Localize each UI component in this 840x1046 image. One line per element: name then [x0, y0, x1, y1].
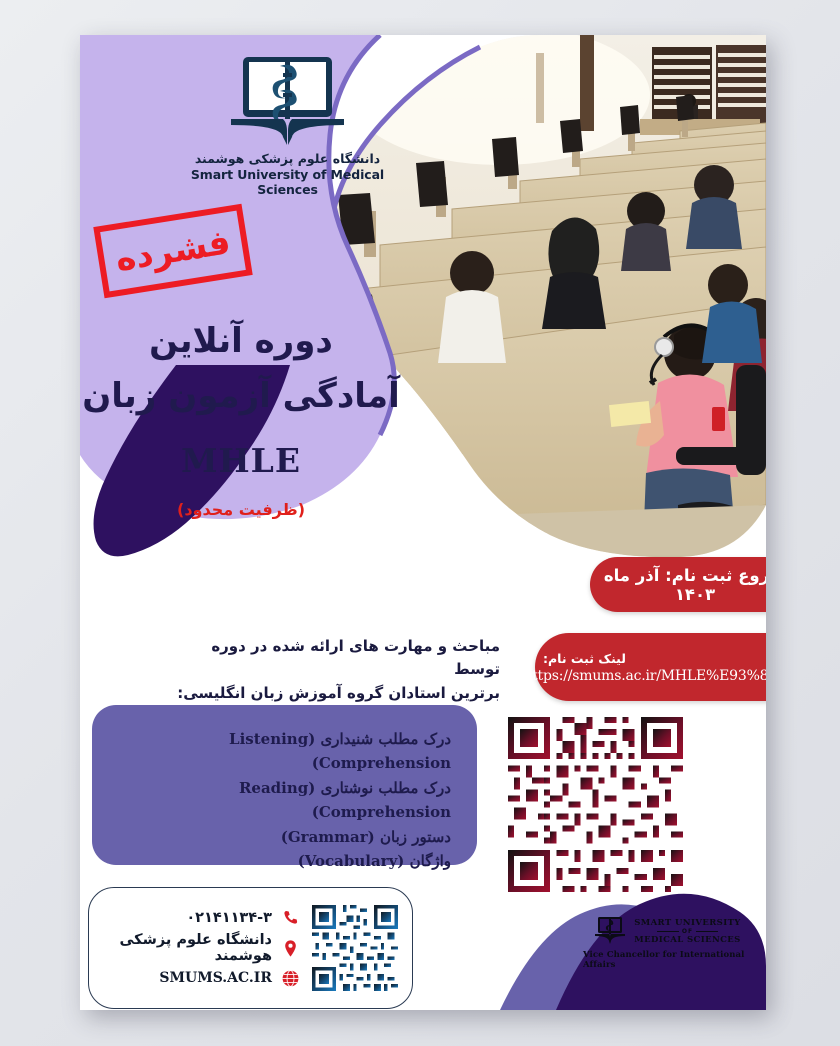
title-line-1: دوره آنلاین	[80, 320, 402, 363]
contact-website-text[interactable]: SMUMS.AC.IR	[159, 970, 272, 986]
footer-logo-line-1: SMART UNIVERSITY	[634, 918, 741, 928]
description-line-2: برترین استادان گروه آموزش زبان انگلیسی:	[170, 682, 500, 705]
title-capacity-note: (ظرفیت محدود)	[80, 500, 402, 519]
registration-link-badge[interactable]: لینک ثبت نام: https://smums.ac.ir/MHLE%E…	[535, 633, 766, 701]
registration-link-label: لینک ثبت نام:	[543, 651, 626, 666]
logo-title-fa: دانشگاه علوم پزشکی هوشمند	[185, 151, 390, 166]
contact-address-text: دانشگاه علوم پزشکی هوشمند	[103, 932, 272, 964]
university-logo: دانشگاه علوم پزشکی هوشمند Smart Universi…	[185, 53, 390, 197]
footer-subtitle: Vice Chancellor for International Affair…	[583, 950, 751, 970]
contact-phone-text: ۰۲۱۴۱۱۳۴-۳	[186, 910, 272, 926]
title-exam-name: MHLE	[80, 441, 402, 480]
registration-qr-code[interactable]	[508, 717, 683, 892]
contact-qr-code[interactable]	[312, 905, 398, 991]
contact-details: ۰۲۱۴۱۱۳۴-۳ دانشگاه علوم پزشکی هوشمند	[103, 903, 312, 993]
contact-website-row[interactable]: SMUMS.AC.IR	[103, 963, 300, 993]
logo-title-en: Smart University of Medical Sciences	[185, 167, 390, 197]
stamp-text: فشرده	[113, 225, 232, 277]
contact-phone-row: ۰۲۱۴۱۱۳۴-۳	[103, 903, 300, 933]
start-date-badge: شروع ثبت نام: آذر ماه ۱۴۰۳	[590, 557, 766, 612]
skill-item-listening: درک مطلب شنیداری (Listening Comprehensio…	[110, 727, 451, 776]
poster-sheet: دانشگاه علوم پزشکی هوشمند Smart Universi…	[80, 35, 766, 1010]
contact-card: ۰۲۱۴۱۱۳۴-۳ دانشگاه علوم پزشکی هوشمند	[88, 887, 413, 1009]
footer-logo-of: OF	[634, 928, 741, 935]
laptop-book-caduceus-icon	[593, 916, 627, 946]
course-description: مباحث و مهارت های ارائه شده در دوره توسط…	[170, 635, 500, 705]
skill-item-vocabulary: واژگان (Vocabulary)	[110, 849, 451, 873]
skills-box: درک مطلب شنیداری (Listening Comprehensio…	[92, 705, 477, 865]
title-line-2: آمادگی آزمون زبان	[80, 375, 402, 418]
registration-link-url[interactable]: https://smums.ac.ir/MHLE%E93%80%2form	[523, 668, 766, 684]
start-date-text: شروع ثبت نام: آذر ماه ۱۴۰۳	[590, 566, 766, 604]
laptop-book-caduceus-icon	[225, 53, 350, 148]
skill-item-reading: درک مطلب نوشتاری (Reading Comprehension)	[110, 776, 451, 825]
poster-title: دوره آنلاین آمادگی آزمون زبان MHLE (ظرفی…	[80, 320, 402, 519]
contact-address-row: دانشگاه علوم پزشکی هوشمند	[103, 933, 300, 963]
description-line-1: مباحث و مهارت های ارائه شده در دوره توسط	[170, 635, 500, 682]
globe-icon	[281, 969, 300, 988]
skill-item-grammar: دستور زبان (Grammar)	[110, 825, 451, 849]
location-pin-icon	[281, 939, 300, 958]
footer-university-logo: SMART UNIVERSITY OF MEDICAL SCIENCES Vic…	[583, 916, 751, 974]
phone-icon	[281, 909, 300, 928]
footer-logo-line-2: MEDICAL SCIENCES	[634, 935, 741, 945]
